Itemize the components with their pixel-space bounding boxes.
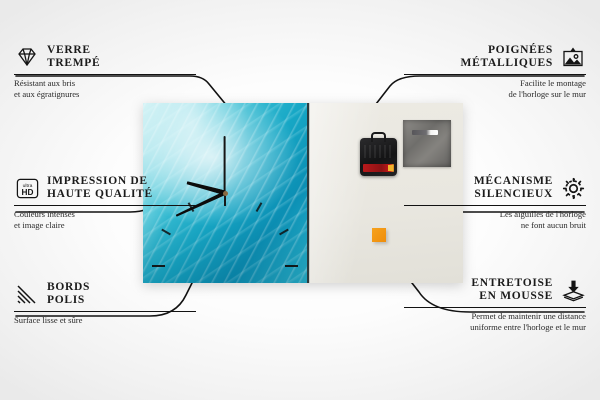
feature-description: Couleurs intenses et image claire	[14, 209, 196, 230]
feature-entretoise-en-mousse: ENTRETOISE EN MOUSSE Permet de maintenir…	[404, 277, 586, 332]
polished-edge-icon	[14, 281, 40, 307]
clock-tick	[279, 229, 289, 236]
feature-mecanisme-silencieux: MÉCANISME SILENCIEUX Les	[404, 175, 586, 230]
feature-rule	[404, 307, 586, 308]
feature-header: POIGNÉES MÉTALLIQUES	[404, 44, 586, 70]
infographic-canvas: VERRE TREMPÉ Résistant aux bris et aux é…	[0, 0, 600, 400]
clock-movement-module	[360, 138, 397, 176]
svg-text:HD: HD	[21, 187, 33, 196]
diamond-icon	[14, 44, 40, 70]
feature-title: BORDS POLIS	[47, 281, 90, 307]
metal-hanger-plate	[403, 120, 451, 167]
feature-description: Résistant aux bris et aux égratignures	[14, 78, 196, 99]
clock-center-hub	[223, 191, 228, 196]
hanger-slot	[412, 130, 438, 135]
hanging-loop	[371, 132, 386, 142]
feature-rule	[404, 205, 586, 206]
foam-spacer-icon	[560, 277, 586, 303]
foam-spacer-pad	[372, 228, 386, 242]
feature-poignees-metalliques: POIGNÉES MÉTALLIQUES Facilite le montage…	[404, 44, 586, 99]
feature-description: Facilite le montage de l'horloge sur le …	[404, 78, 586, 99]
feature-rule	[14, 311, 196, 312]
feature-bords-polis: BORDS POLIS Surface lisse et sûre	[14, 281, 196, 326]
feature-verre-trempe: VERRE TREMPÉ Résistant aux bris et aux é…	[14, 44, 196, 99]
picture-hanger-icon	[560, 44, 586, 70]
clock-second-hand	[224, 136, 226, 192]
feature-rule	[404, 74, 586, 75]
feature-title: IMPRESSION DE HAUTE QUALITÉ	[47, 175, 153, 201]
feature-description: Surface lisse et sûre	[14, 315, 196, 326]
feature-header: BORDS POLIS	[14, 281, 196, 307]
feature-description: Permet de maintenir une distance uniform…	[404, 311, 586, 332]
feature-rule	[14, 74, 196, 75]
aa-battery	[363, 164, 394, 172]
feature-title: ENTRETOISE EN MOUSSE	[471, 277, 553, 303]
clock-tick	[256, 202, 263, 212]
ultra-hd-icon: ultra HD	[14, 175, 40, 201]
clock-tick	[152, 265, 165, 267]
feature-header: VERRE TREMPÉ	[14, 44, 196, 70]
feature-rule	[14, 205, 196, 206]
feature-header: MÉCANISME SILENCIEUX	[404, 175, 586, 201]
movement-vent	[364, 145, 393, 158]
clock-tick	[285, 265, 298, 267]
feature-header: ultra HD IMPRESSION DE HAUTE QUALITÉ	[14, 175, 196, 201]
feature-header: ENTRETOISE EN MOUSSE	[404, 277, 586, 303]
feature-title: POIGNÉES MÉTALLIQUES	[461, 44, 553, 70]
feature-impression-haute-qualite: ultra HD IMPRESSION DE HAUTE QUALITÉ Cou…	[14, 175, 196, 230]
gear-icon	[560, 175, 586, 201]
feature-title: MÉCANISME SILENCIEUX	[474, 175, 553, 201]
feature-title: VERRE TREMPÉ	[47, 44, 100, 70]
feature-description: Les aiguilles de l'horloge ne font aucun…	[404, 209, 586, 230]
